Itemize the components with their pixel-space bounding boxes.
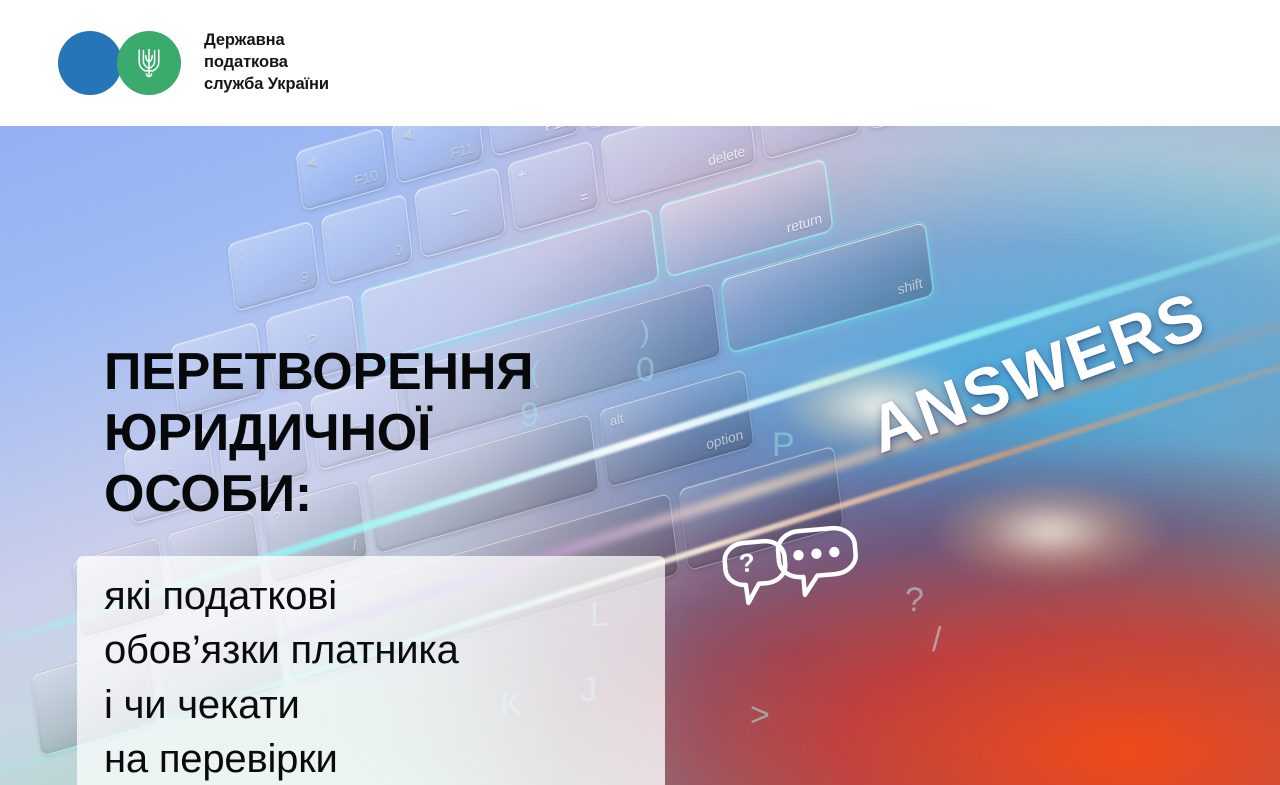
logo-text-line-2: податкова (204, 53, 288, 71)
logo-blue-circle-icon (58, 31, 122, 95)
page-subtitle: які податкові обов’язки платника і чи че… (104, 569, 459, 785)
key-home: home (861, 126, 975, 130)
organization-logo[interactable]: Державнаподатковаслужба України (58, 30, 329, 96)
key-plus: += (507, 139, 600, 232)
hero-image: ◀F10 ◀)F11 ◀))F12 ⏏ F13 F14 F15 (9 )0 — … (0, 126, 1280, 785)
header-bar: Державнаподатковаслужба України (0, 0, 1280, 126)
logo-text-line-3: служба України (204, 75, 329, 93)
key-f10: ◀F10 (295, 127, 389, 212)
ukraine-trident-icon (117, 31, 181, 95)
key-0: )0 (320, 193, 413, 286)
banner-root: Державнаподатковаслужба України ◀F10 ◀)F… (0, 0, 1280, 785)
logo-text: Державнаподатковаслужба України (204, 30, 329, 96)
key-minus: — (414, 166, 507, 259)
svg-text:?: ? (738, 547, 756, 578)
key-alt-option: altoption (599, 368, 755, 488)
speech-bubbles-icon: ? (714, 522, 866, 624)
page-title: ПЕРЕТВОРЕННЯ ЮРИДИЧНОЇ ОСОБИ: (104, 342, 533, 524)
logo-text-line-1: Державна (204, 31, 285, 49)
key-fn: fn (757, 126, 862, 160)
logo-marks (58, 31, 186, 95)
